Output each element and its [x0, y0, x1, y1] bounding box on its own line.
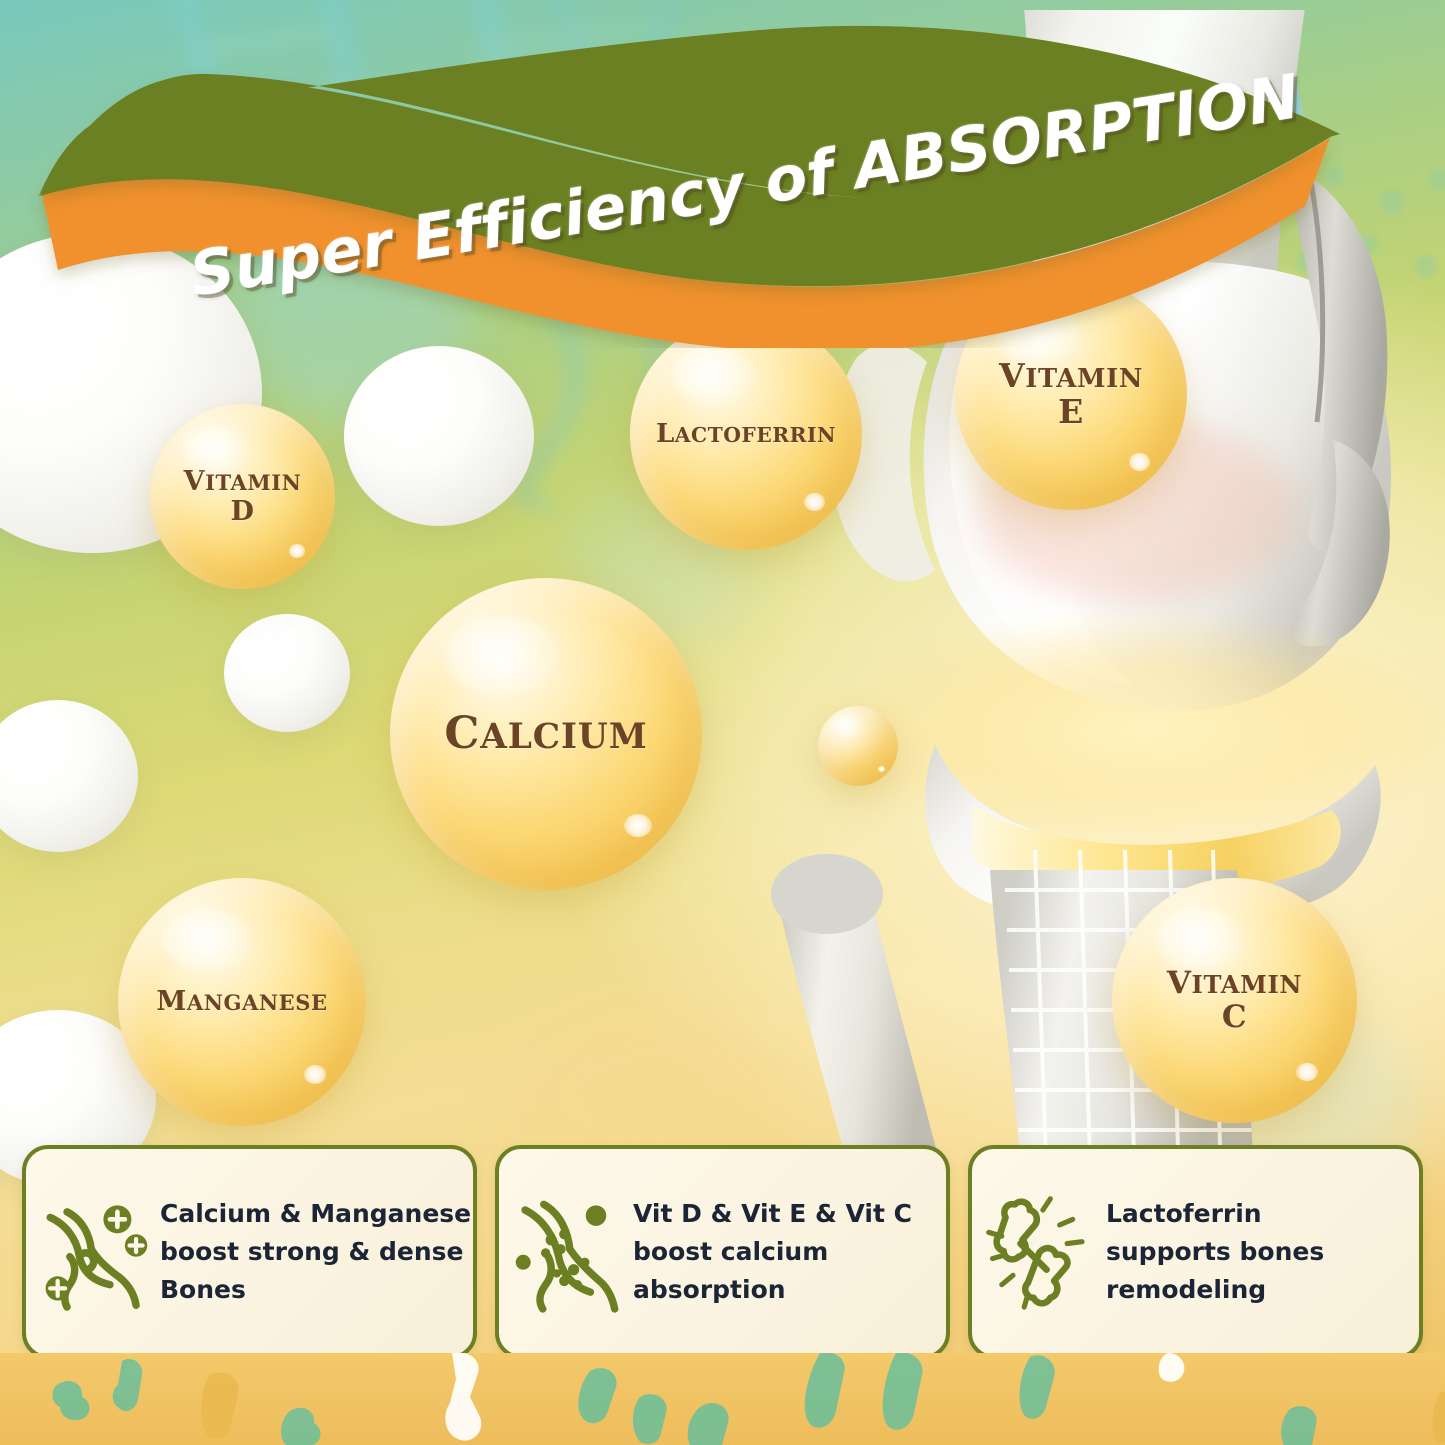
benefit-card-text: Vit D & Vit E & Vit C boost calcium abso… — [627, 1195, 932, 1309]
benefit-card-text: Calcium & Manganese boost strong & dense… — [154, 1195, 471, 1309]
bubble-lactoferrin[interactable]: LACTOFERRIN — [630, 318, 862, 550]
bubble-label: MANGANESE — [156, 987, 327, 1016]
banner-ribbon — [0, 18, 1445, 348]
benefit-card-lactoferrin[interactable]: Lactoferrin supports bones remodeling — [968, 1145, 1423, 1359]
bubble-manganese[interactable]: MANGANESE — [118, 878, 366, 1126]
bubble-vitamin-c[interactable]: VITAMINC — [1112, 878, 1357, 1123]
bottom-decorative-strip — [0, 1353, 1445, 1445]
poster-canvas: VITAMIND LACTOFERRIN VITAMINE CALCIUM MA… — [0, 0, 1445, 1445]
benefit-card-text: Lactoferrin supports bones remodeling — [1100, 1195, 1405, 1309]
bubble-label: VITAMINE — [999, 358, 1143, 429]
benefit-cards-row: Calcium & Manganese boost strong & dense… — [0, 1145, 1445, 1359]
knee-joint-plus-icon — [36, 1185, 154, 1320]
bubble-vitamin-d[interactable]: VITAMIND — [150, 404, 335, 589]
healing-bone-icon — [982, 1185, 1100, 1320]
knee-joint-nutrients-icon — [509, 1185, 627, 1320]
white-sphere — [344, 346, 534, 526]
benefit-card-vitamins[interactable]: Vit D & Vit E & Vit C boost calcium abso… — [495, 1145, 950, 1359]
bubble-label: CALCIUM — [444, 710, 647, 758]
white-sphere — [224, 614, 350, 732]
bubble-small-decorative — [818, 706, 898, 786]
benefit-card-calcium-manganese[interactable]: Calcium & Manganese boost strong & dense… — [22, 1145, 477, 1359]
bubble-calcium[interactable]: CALCIUM — [390, 578, 702, 890]
white-sphere — [0, 700, 138, 852]
bubble-label: VITAMIND — [184, 467, 302, 525]
bubble-label: LACTOFERRIN — [656, 420, 836, 448]
bubble-label: VITAMINC — [1167, 967, 1302, 1034]
